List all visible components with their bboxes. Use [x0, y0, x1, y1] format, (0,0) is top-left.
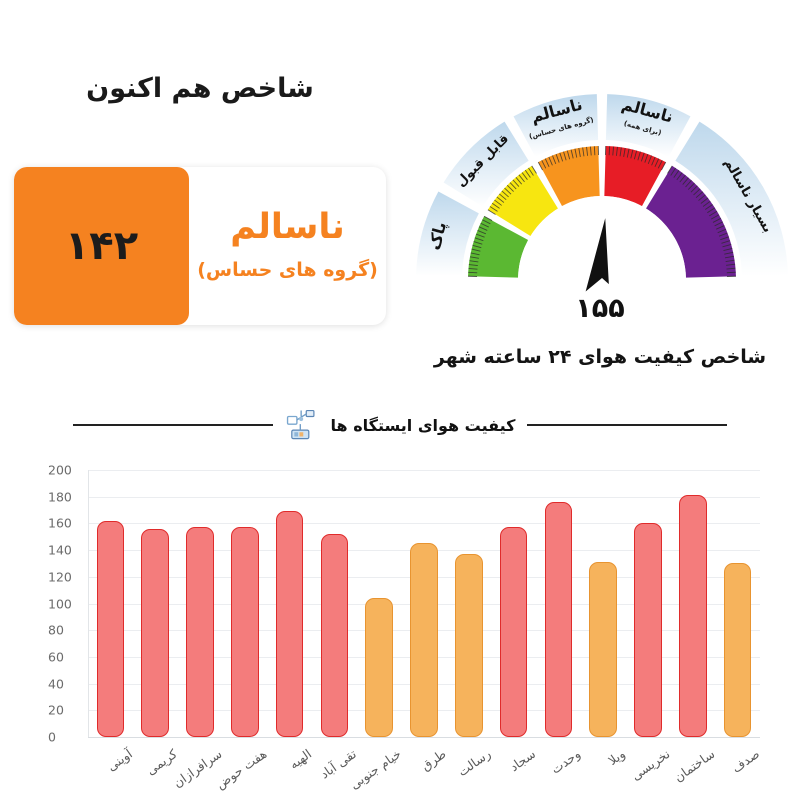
aqi-value-text: ۱۴۲ — [65, 223, 138, 269]
aqi-value-tile: ۱۴۲ — [14, 167, 189, 325]
aqi-dashboard-page: شاخص هم اکنون ۱۴۲ ناسالم (گروه های حساس)… — [0, 0, 800, 800]
chart-bar[interactable] — [500, 527, 528, 737]
chart-bar[interactable] — [724, 563, 752, 737]
gridline — [88, 470, 760, 471]
chart-section-title: کیفیت هوای ایستگاه ها — [331, 416, 516, 435]
y-axis-tick-label: 140 — [48, 543, 88, 558]
chart-bar[interactable] — [321, 534, 349, 737]
chart-bar[interactable] — [679, 495, 707, 737]
chart-bar[interactable] — [455, 554, 483, 737]
x-axis-line — [88, 737, 760, 738]
gauge-panel: پاکقابل قبولناسالم(گروه های حساس)ناسالم(… — [404, 48, 796, 348]
chart-bar[interactable] — [365, 598, 393, 737]
y-axis-tick-label: 0 — [48, 730, 88, 745]
y-axis-line — [88, 470, 89, 737]
chart-bar[interactable] — [141, 529, 169, 737]
chart-bar[interactable] — [410, 543, 438, 737]
header-rule-right — [527, 424, 727, 426]
y-axis-tick-label: 20 — [48, 703, 88, 718]
header-rule-left — [73, 424, 273, 426]
current-index-panel: شاخص هم اکنون ۱۴۲ ناسالم (گروه های حساس) — [0, 55, 400, 355]
chart-bar[interactable] — [545, 502, 573, 737]
chart-bar[interactable] — [231, 527, 259, 737]
chart-bar[interactable] — [589, 562, 617, 737]
stations-bar-chart: Aqi 020406080100120140160180200 آوینیکری… — [0, 452, 800, 800]
y-axis-tick-label: 120 — [48, 569, 88, 584]
gauge-value-text: ۱۵۵ — [404, 293, 796, 324]
y-axis-tick-label: 100 — [48, 596, 88, 611]
current-aqi-card: ۱۴۲ ناسالم (گروه های حساس) — [14, 167, 386, 325]
y-axis-tick-label: 60 — [48, 649, 88, 664]
aqi-status-sublabel: (گروه های حساس) — [197, 259, 378, 281]
chart-section-header: کیفیت هوای ایستگاه ها — [0, 408, 800, 442]
gauge-caption: شاخص کیفیت هوای ۲۴ ساعته شهر — [404, 346, 796, 368]
y-axis-tick-label: 40 — [48, 676, 88, 691]
y-axis-tick-label: 160 — [48, 516, 88, 531]
chart-bar[interactable] — [97, 521, 125, 737]
y-axis-tick-label: 180 — [48, 489, 88, 504]
gridline — [88, 497, 760, 498]
chart-bar[interactable] — [276, 511, 304, 737]
chart-bar[interactable] — [186, 527, 214, 737]
aqi-status-side: ناسالم (گروه های حساس) — [189, 167, 386, 325]
aqi-status-label: ناسالم — [230, 207, 344, 247]
current-index-title: شاخص هم اکنون — [0, 73, 400, 104]
y-axis-tick-label: 80 — [48, 623, 88, 638]
brand-logo-icon — [285, 408, 319, 442]
gridline — [88, 523, 760, 524]
chart-bar[interactable] — [634, 523, 662, 737]
y-axis-tick-label: 200 — [48, 463, 88, 478]
